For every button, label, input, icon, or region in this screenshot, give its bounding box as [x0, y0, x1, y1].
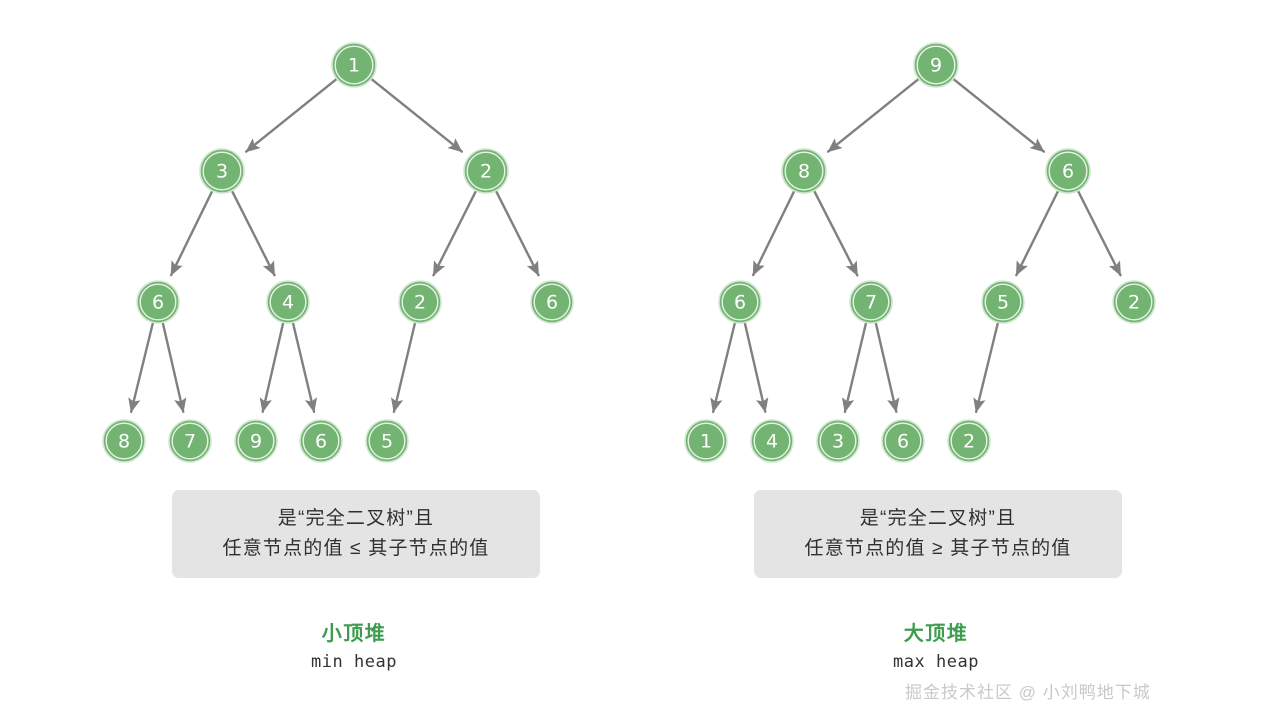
tree-node: 6 [719, 281, 761, 323]
caption-line: 任意节点的值 ≥ 其子节点的值 [805, 534, 1072, 564]
node-inner-ring [402, 284, 438, 320]
tree-edge [496, 192, 538, 276]
tree-edges [131, 79, 1120, 411]
node-inner-ring [820, 423, 856, 459]
node-circle [719, 281, 761, 323]
tree-edge [372, 79, 462, 151]
node-circle [464, 149, 508, 193]
node-inner-ring [688, 423, 724, 459]
node-inner-ring [467, 152, 505, 190]
heap-property-caption: 是“完全二叉树”且任意节点的值 ≥ 其子节点的值 [754, 490, 1122, 578]
node-circle [782, 149, 826, 193]
node-circle [200, 149, 244, 193]
tree-edge [828, 79, 918, 151]
node-circle [982, 281, 1024, 323]
node-inner-ring [917, 46, 955, 84]
node-circle [137, 281, 179, 323]
node-inner-ring [534, 284, 570, 320]
tree-node: 6 [531, 281, 573, 323]
tree-node: 9 [235, 420, 277, 462]
tree-node: 9 [914, 43, 958, 87]
node-circle [300, 420, 342, 462]
node-inner-ring [369, 423, 405, 459]
caption-line: 任意节点的值 ≤ 其子节点的值 [223, 534, 490, 564]
tree-edge [171, 192, 212, 275]
tree-node: 2 [948, 420, 990, 462]
node-value: 3 [216, 161, 228, 183]
caption-line: 是“完全二叉树”且 [278, 504, 434, 534]
tree-node: 2 [399, 281, 441, 323]
node-circle [948, 420, 990, 462]
node-inner-ring [140, 284, 176, 320]
node-value: 4 [766, 431, 778, 453]
tree-node: 8 [103, 420, 145, 462]
node-value: 9 [250, 431, 262, 453]
heap-title-cn: 小顶堆 [234, 617, 474, 646]
node-value: 4 [282, 292, 294, 314]
tree-edge [814, 191, 857, 275]
node-value: 6 [1062, 161, 1074, 183]
tree-node: 7 [169, 420, 211, 462]
node-value: 6 [734, 292, 746, 314]
tree-edge [131, 323, 153, 411]
tree-edge [713, 323, 735, 411]
node-circle [399, 281, 441, 323]
tree-edge [293, 323, 314, 411]
tree-edge [845, 323, 866, 411]
node-inner-ring [1049, 152, 1087, 190]
node-value: 6 [315, 431, 327, 453]
tree-nodes: 132642687965986675214362 [103, 43, 1155, 462]
tree-node: 5 [982, 281, 1024, 323]
node-value: 8 [118, 431, 130, 453]
node-inner-ring [203, 152, 241, 190]
node-circle [817, 420, 859, 462]
tree-node: 1 [685, 420, 727, 462]
node-circle [1113, 281, 1155, 323]
node-value: 5 [997, 292, 1009, 314]
node-value: 2 [1128, 292, 1140, 314]
caption-line: 是“完全二叉树”且 [860, 504, 1016, 534]
node-circle [267, 281, 309, 323]
node-inner-ring [985, 284, 1021, 320]
node-inner-ring [885, 423, 921, 459]
tree-edge [1016, 192, 1057, 276]
node-value: 2 [963, 431, 975, 453]
node-value: 1 [348, 55, 360, 77]
heap-title-cn: 大顶堆 [816, 617, 1056, 646]
tree-node: 7 [850, 281, 892, 323]
tree-edge [163, 323, 183, 411]
node-circle [531, 281, 573, 323]
tree-edge [753, 192, 794, 275]
tree-node: 6 [300, 420, 342, 462]
node-circle [882, 420, 924, 462]
node-value: 6 [546, 292, 558, 314]
node-inner-ring [951, 423, 987, 459]
node-value: 2 [480, 161, 492, 183]
node-inner-ring [270, 284, 306, 320]
node-value: 2 [414, 292, 426, 314]
heap-property-caption: 是“完全二叉树”且任意节点的值 ≤ 其子节点的值 [172, 490, 540, 578]
node-circle [169, 420, 211, 462]
node-value: 8 [798, 161, 810, 183]
diagram-canvas: 132642687965986675214362 是“完全二叉树”且任意节点的值… [0, 0, 1280, 720]
node-value: 5 [381, 431, 393, 453]
node-inner-ring [853, 284, 889, 320]
node-circle [751, 420, 793, 462]
node-value: 7 [184, 431, 196, 453]
node-inner-ring [238, 423, 274, 459]
tree-edge [246, 79, 336, 151]
node-value: 3 [832, 431, 844, 453]
node-value: 6 [897, 431, 909, 453]
tree-node: 8 [782, 149, 826, 193]
tree-node: 6 [137, 281, 179, 323]
node-circle [1046, 149, 1090, 193]
tree-node: 2 [464, 149, 508, 193]
tree-edge [976, 323, 998, 411]
tree-edge [876, 323, 896, 411]
tree-node: 2 [1113, 281, 1155, 323]
tree-edge [263, 323, 283, 411]
node-circle [366, 420, 408, 462]
tree-node: 3 [817, 420, 859, 462]
tree-node: 3 [200, 149, 244, 193]
node-circle [103, 420, 145, 462]
watermark-text: 掘金技术社区 @ 小刘鸭地下城 [905, 678, 1151, 703]
node-inner-ring [722, 284, 758, 320]
heap-title-en: max heap [816, 652, 1056, 672]
tree-edge [232, 192, 274, 276]
node-value: 9 [930, 55, 942, 77]
tree-node: 6 [1046, 149, 1090, 193]
tree-edge [394, 323, 415, 411]
heap-title-en: min heap [234, 652, 474, 672]
node-circle [685, 420, 727, 462]
tree-node: 4 [267, 281, 309, 323]
tree-node: 1 [332, 43, 376, 87]
tree-edge [954, 79, 1044, 151]
tree-node: 5 [366, 420, 408, 462]
node-inner-ring [1116, 284, 1152, 320]
node-circle [914, 43, 958, 87]
node-circle [332, 43, 376, 87]
node-inner-ring [785, 152, 823, 190]
node-value: 6 [152, 292, 164, 314]
tree-node: 6 [882, 420, 924, 462]
node-inner-ring [172, 423, 208, 459]
node-circle [850, 281, 892, 323]
node-circle [235, 420, 277, 462]
node-value: 1 [700, 431, 712, 453]
node-inner-ring [335, 46, 373, 84]
heap-trees-svg: 132642687965986675214362 [0, 0, 1280, 720]
tree-edge [1078, 192, 1120, 276]
tree-edge [433, 192, 475, 276]
node-inner-ring [106, 423, 142, 459]
node-inner-ring [303, 423, 339, 459]
tree-node: 4 [751, 420, 793, 462]
node-value: 7 [865, 292, 877, 314]
node-inner-ring [754, 423, 790, 459]
tree-edge [745, 323, 765, 411]
